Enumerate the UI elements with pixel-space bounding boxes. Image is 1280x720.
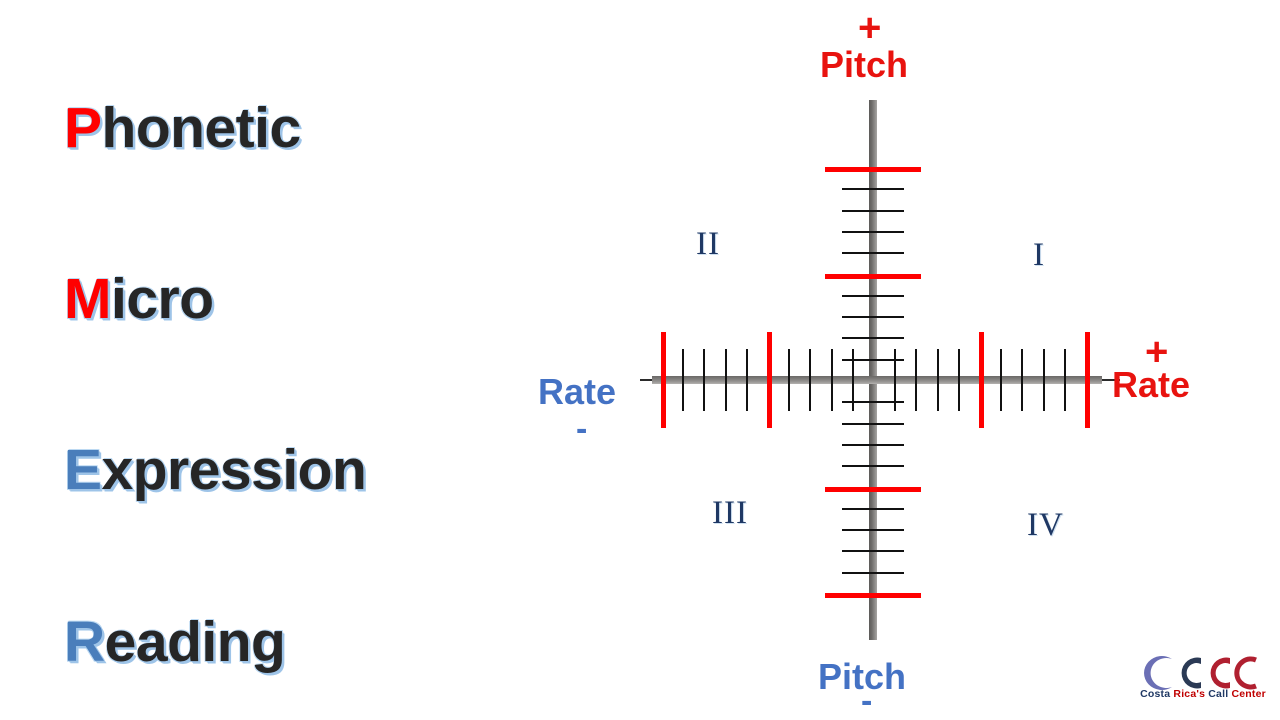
rate-negative-label: Rate: [538, 374, 616, 410]
y-axis-tick-major: [825, 487, 921, 492]
acronym-item-phonetic: Phonetic: [64, 95, 301, 161]
y-axis-tick-minor: [842, 359, 904, 361]
logo-word-call: Call: [1208, 688, 1228, 700]
x-axis-tick-minor: [703, 349, 705, 411]
x-axis-tick-major: [661, 332, 666, 428]
acronym-item-reading: Reading: [64, 609, 285, 675]
y-axis-tick-minor: [842, 572, 904, 574]
x-axis-tick-minor: [1064, 349, 1066, 411]
rate-positive-label: Rate: [1112, 367, 1190, 403]
y-axis-tick-minor: [842, 444, 904, 446]
y-axis-tick-minor: [842, 423, 904, 425]
x-axis-tick-minor: [788, 349, 790, 411]
logo-word-center: Center: [1231, 688, 1265, 700]
y-axis-tick-minor: [842, 295, 904, 297]
pitch-rate-quadrant-chart: + Pitch Pitch - Rate - + Rate I II III I…: [500, 0, 1280, 720]
pitch-positive-label: Pitch: [820, 47, 908, 83]
x-axis-tick-minor: [809, 349, 811, 411]
acronym-initial-p: P: [64, 96, 102, 160]
y-axis-tick-major: [825, 167, 921, 172]
acronym-initial-e: E: [64, 438, 102, 502]
x-axis-tick-minor: [746, 349, 748, 411]
x-axis-tick-minor: [958, 349, 960, 411]
x-axis-tick-major: [767, 332, 772, 428]
y-axis-tick-minor: [842, 337, 904, 339]
y-axis-tick-minor: [842, 550, 904, 552]
logo-c-marks: [1138, 656, 1268, 690]
logo-word-ricas: Rica's: [1173, 688, 1205, 700]
y-axis-tick-minor: [842, 252, 904, 254]
x-axis-tick-minor: [682, 349, 684, 411]
acronym-initial-r: R: [64, 610, 105, 674]
x-axis-tick-major: [979, 332, 984, 428]
y-axis-tick-minor: [842, 188, 904, 190]
y-axis-tick-minor: [842, 231, 904, 233]
x-axis-tick-minor: [937, 349, 939, 411]
logo-word-costa: Costa: [1140, 688, 1170, 700]
y-axis-tick-minor: [842, 529, 904, 531]
y-axis-tick-minor: [842, 401, 904, 403]
acronym-item-micro: Micro: [64, 266, 214, 332]
x-axis-line: [652, 376, 1102, 384]
quadrant-label-ii: II: [696, 226, 720, 263]
x-axis-tick-major: [1085, 332, 1090, 428]
x-axis-tick-minor: [1000, 349, 1002, 411]
pitch-positive-sign: +: [858, 8, 881, 48]
acronym-item-expression: Expression: [64, 437, 366, 503]
x-axis-tick-minor: [1043, 349, 1045, 411]
acronym-rest-expression: xpression: [102, 438, 367, 502]
acronym-initial-m: M: [64, 267, 111, 331]
company-logo: Costa Rica's Call Center: [1138, 656, 1268, 714]
x-axis-tick-minor: [1021, 349, 1023, 411]
x-axis-tick-minor: [725, 349, 727, 411]
y-axis-tick-major: [825, 274, 921, 279]
logo-text: Costa Rica's Call Center: [1138, 688, 1268, 700]
y-axis-tick-minor: [842, 316, 904, 318]
rate-negative-sign: -: [576, 412, 587, 446]
x-axis-tick-minor: [831, 349, 833, 411]
x-axis-tick-minor: [915, 349, 917, 411]
y-axis-tick-minor: [842, 508, 904, 510]
y-axis-line: [869, 100, 877, 640]
y-axis-tick-major: [825, 593, 921, 598]
acronym-rest-reading: eading: [105, 610, 286, 674]
acronym-rest-phonetic: honetic: [102, 96, 301, 160]
quadrant-label-iii: III: [712, 495, 748, 532]
pitch-negative-sign: -: [861, 684, 872, 718]
acronym-rest-micro: icro: [111, 267, 214, 331]
quadrant-label-i: I: [1033, 237, 1045, 274]
acronym-list: Phonetic Micro Expression Reading: [0, 0, 520, 720]
y-axis-tick-minor: [842, 465, 904, 467]
y-axis-tick-minor: [842, 210, 904, 212]
quadrant-label-iv: IV: [1027, 507, 1064, 544]
